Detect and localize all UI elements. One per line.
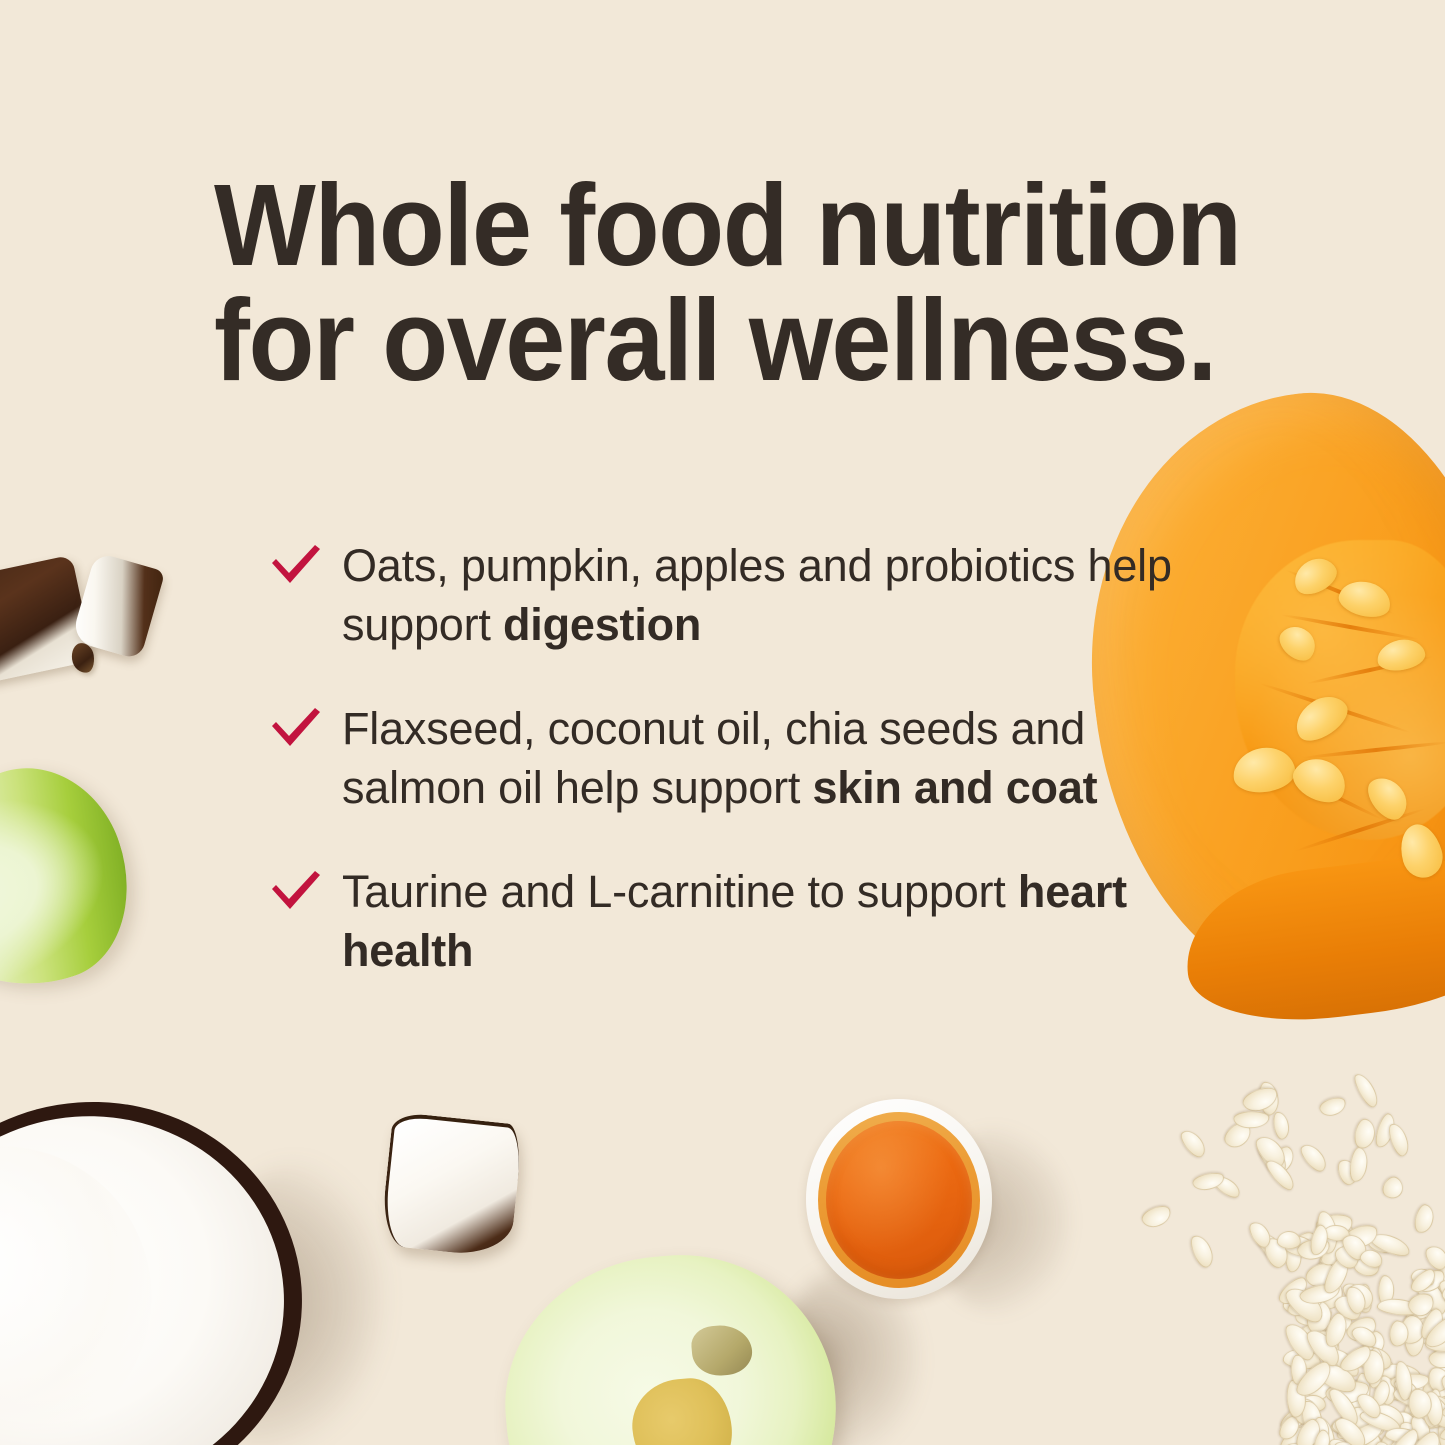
oat-flake — [1378, 1173, 1407, 1202]
list-item: Oats, pumpkin, apples and probiotics hel… — [268, 536, 1198, 655]
list-item-text-emphasis: digestion — [503, 599, 701, 650]
list-item-text: Flaxseed, coconut oil, chia seeds and sa… — [342, 699, 1198, 818]
list-item-text-emphasis: skin and coat — [812, 762, 1097, 813]
oat-flake — [1412, 1202, 1437, 1234]
oat-flake — [1347, 1146, 1370, 1183]
check-icon — [268, 868, 324, 914]
oat-flake — [1233, 1111, 1270, 1129]
coconut-half-image — [0, 1088, 315, 1445]
check-icon — [268, 542, 324, 588]
oat-flake — [1177, 1126, 1209, 1161]
oat-flake — [1140, 1203, 1174, 1231]
check-icon — [268, 705, 324, 751]
list-item-text: Oats, pumpkin, apples and probiotics hel… — [342, 536, 1198, 655]
oat-flake — [1297, 1140, 1330, 1175]
oat-flake — [1352, 1117, 1378, 1150]
list-item-text-normal: Taurine and L-carnitine to support — [342, 866, 1018, 917]
oat-flake — [1386, 1121, 1412, 1159]
oats-pile-image — [1125, 1075, 1445, 1445]
headline-line-2: for overall wellness. — [214, 283, 1200, 398]
oat-flake — [1271, 1111, 1291, 1141]
apple-wedge-image — [0, 745, 154, 1016]
benefits-list: Oats, pumpkin, apples and probiotics hel… — [268, 536, 1198, 980]
list-item: Flaxseed, coconut oil, chia seeds and sa… — [268, 699, 1198, 818]
page-title: Whole food nutrition for overall wellnes… — [214, 168, 1200, 398]
oat-flake — [1351, 1070, 1382, 1110]
headline-line-1: Whole food nutrition — [214, 168, 1200, 283]
list-item-text-normal: Oats, pumpkin, apples and probiotics hel… — [342, 540, 1172, 650]
promo-panel: Whole food nutrition for overall wellnes… — [0, 0, 1445, 1445]
apple-half-image — [493, 1242, 849, 1445]
oat-flake — [1317, 1095, 1348, 1119]
list-item-text: Taurine and L-carnitine to support heart… — [342, 862, 1198, 981]
oat-flake — [1187, 1232, 1217, 1270]
coconut-piece-image — [379, 1112, 523, 1259]
list-item: Taurine and L-carnitine to support heart… — [268, 862, 1198, 981]
salmon-oil-surface — [826, 1121, 972, 1279]
